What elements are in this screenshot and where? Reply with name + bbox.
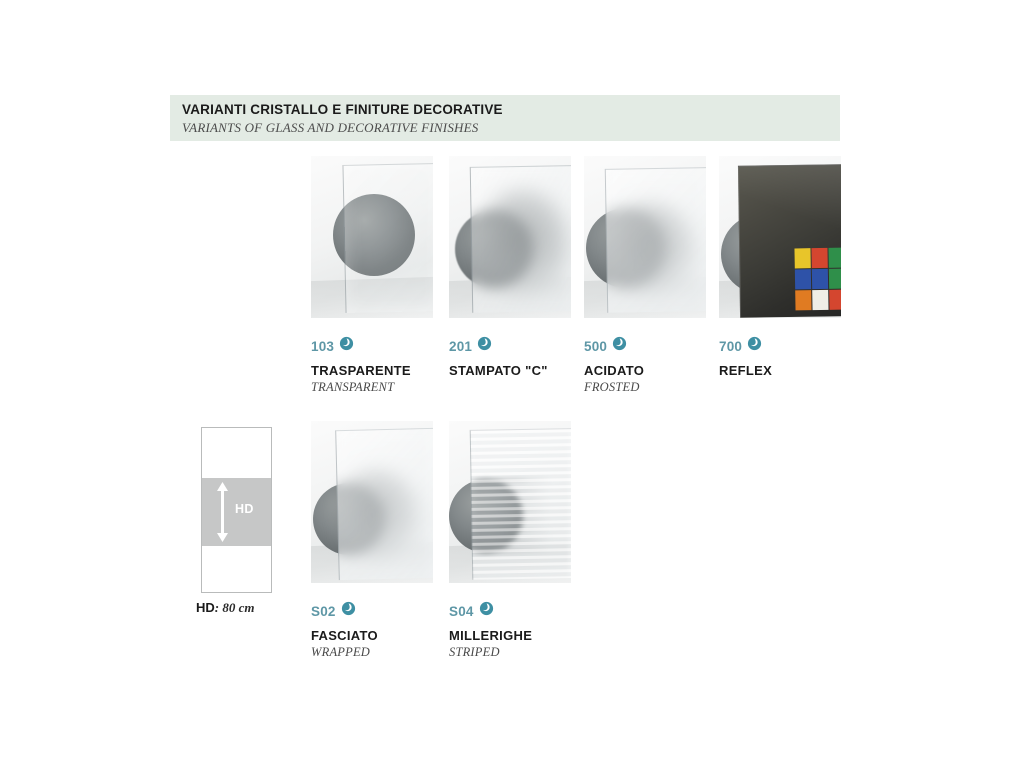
hd-caption: HD: 80 cm bbox=[196, 600, 316, 616]
sample-code: S04 bbox=[449, 604, 474, 619]
color-chart-swatch-4 bbox=[812, 269, 828, 289]
glass-panel-fasciato bbox=[335, 428, 433, 580]
glass-swatch-icon bbox=[479, 601, 494, 621]
hd-band-label: HD bbox=[235, 502, 254, 516]
sample-name-en: WRAPPED bbox=[311, 645, 433, 660]
hd-caption-value: : 80 cm bbox=[215, 600, 255, 615]
sample-name-it: REFLEX bbox=[719, 363, 841, 378]
page-subtitle: VARIANTS OF GLASS AND DECORATIVE FINISHE… bbox=[182, 119, 840, 137]
sample-code-row-103: 103 bbox=[311, 337, 433, 355]
glass-panel-stampato-c bbox=[470, 165, 571, 313]
sample-name-it: FASCIATO bbox=[311, 628, 433, 643]
color-chart-swatch-5 bbox=[829, 269, 841, 289]
section-header-band: VARIANTI CRISTALLO E FINITURE DECORATIVE… bbox=[170, 95, 840, 141]
glass-panel-acidato bbox=[605, 167, 706, 313]
sample-code: 500 bbox=[584, 339, 607, 354]
glass-panel-transparent bbox=[342, 163, 433, 313]
sample-photo-reflex bbox=[719, 156, 841, 318]
sample-name-en: STRIPED bbox=[449, 645, 571, 660]
sample-code: 201 bbox=[449, 339, 472, 354]
sample-code: 103 bbox=[311, 339, 334, 354]
sample-name-it: ACIDATO bbox=[584, 363, 706, 378]
glass-swatch-icon bbox=[477, 336, 492, 356]
sample-card-500[interactable]: 500 ACIDATO FROSTED bbox=[584, 156, 706, 395]
hd-caption-key: HD bbox=[196, 600, 215, 615]
color-chart-swatch-0 bbox=[794, 248, 810, 268]
sample-code-row-201: 201 bbox=[449, 337, 571, 355]
sample-photo-stampato-c bbox=[449, 156, 571, 318]
color-reference-chart bbox=[794, 248, 841, 311]
color-chart-swatch-7 bbox=[812, 290, 828, 310]
color-chart-swatch-1 bbox=[811, 248, 827, 268]
glass-swatch-icon bbox=[341, 601, 356, 621]
sample-photo-fasciato bbox=[311, 421, 433, 583]
sample-code-row-700: 700 bbox=[719, 337, 841, 355]
page-title: VARIANTI CRISTALLO E FINITURE DECORATIVE bbox=[182, 100, 840, 119]
sample-name-it: TRASPARENTE bbox=[311, 363, 433, 378]
hd-dimension-diagram: HD bbox=[201, 427, 272, 593]
glass-panel-millerighe bbox=[470, 428, 571, 580]
sample-name-en: TRANSPARENT bbox=[311, 380, 433, 395]
sample-name-it: STAMPATO "C" bbox=[449, 363, 571, 378]
glass-swatch-icon bbox=[747, 336, 762, 356]
sample-code: S02 bbox=[311, 604, 336, 619]
sample-card-700[interactable]: 700 REFLEX bbox=[719, 156, 841, 380]
color-chart-swatch-2 bbox=[828, 248, 841, 268]
hd-double-arrow-icon bbox=[216, 482, 229, 542]
sample-card-201[interactable]: 201 STAMPATO "C" bbox=[449, 156, 571, 380]
sample-photo-millerighe bbox=[449, 421, 571, 583]
color-chart-swatch-3 bbox=[795, 269, 811, 289]
color-chart-swatch-6 bbox=[795, 290, 811, 310]
sample-photo-acidato bbox=[584, 156, 706, 318]
glass-swatch-icon bbox=[339, 336, 354, 356]
sample-code-row-500: 500 bbox=[584, 337, 706, 355]
sample-code-row-S04: S04 bbox=[449, 602, 571, 620]
sample-card-S02[interactable]: S02 FASCIATO WRAPPED bbox=[311, 421, 433, 660]
sample-name-en: FROSTED bbox=[584, 380, 706, 395]
sample-photo-transparent bbox=[311, 156, 433, 318]
sample-name-it: MILLERIGHE bbox=[449, 628, 571, 643]
sample-code-row-S02: S02 bbox=[311, 602, 433, 620]
sample-code: 700 bbox=[719, 339, 742, 354]
glass-swatch-icon bbox=[612, 336, 627, 356]
sample-card-103[interactable]: 103 TRASPARENTE TRANSPARENT bbox=[311, 156, 433, 395]
color-chart-swatch-8 bbox=[829, 290, 841, 310]
sample-card-S04[interactable]: S04 MILLERIGHE STRIPED bbox=[449, 421, 571, 660]
